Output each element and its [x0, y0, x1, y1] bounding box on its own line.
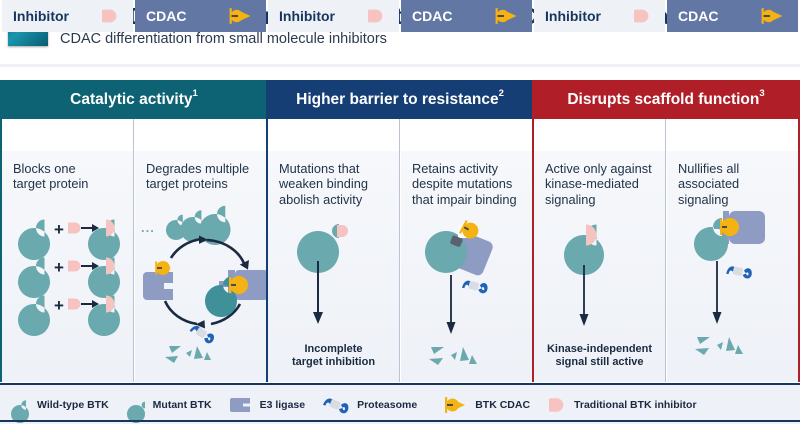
illustration-catalytic-cycle: ... — [135, 196, 266, 381]
subheader-inhibitor-1: Inhibitor — [2, 0, 133, 32]
subheader-label: CDAC — [412, 8, 452, 24]
slide: 2 BTK CDAC Emerging as Potential Best-in… — [0, 0, 800, 422]
panel-description: Blocks one target protein — [13, 161, 125, 192]
mutant-btk-with-inhibitor — [297, 224, 348, 273]
legend-item-e3-ligase: E3 ligase — [229, 395, 306, 415]
proteasome-icon — [725, 263, 753, 282]
btk-cdac-icon — [749, 7, 785, 25]
column-divider-3 — [665, 119, 666, 382]
illustration-kinase-mediated — [534, 213, 665, 363]
legend-item-traditional-btk-inhibitor: Traditional BTK inhibitor — [547, 395, 697, 415]
traditional-btk-inhibitor-icon — [100, 7, 120, 25]
ternary-complex-wildtype — [694, 211, 765, 261]
legend-item-btk-cdac: BTK CDAC — [434, 395, 530, 415]
btk-cdac-icon — [483, 7, 519, 25]
reaction-row: + — [18, 296, 120, 337]
category-label: Disrupts scaffold function — [567, 91, 759, 109]
legend-item-wild-type-btk: Wild-type BTK — [10, 395, 109, 415]
btk-cdac-icon — [434, 395, 468, 415]
column-divider-2 — [399, 119, 400, 382]
e3-ligase-icon — [229, 395, 253, 415]
subheader-inhibitor-2: Inhibitor — [268, 0, 399, 32]
illustration-nullifies-signaling — [667, 203, 798, 373]
subheader-label: Inhibitor — [13, 8, 69, 24]
legend-label: Traditional BTK inhibitor — [574, 399, 697, 411]
degraded-fragments — [695, 337, 743, 355]
column-divider-1 — [133, 119, 134, 382]
reaction-row: + — [18, 220, 120, 261]
subheader-cdac-2: CDAC — [401, 0, 532, 32]
legend-label: Proteasome — [357, 399, 417, 411]
subheader-inhibitor-3: Inhibitor — [534, 0, 665, 32]
traditional-btk-inhibitor-icon — [547, 395, 567, 415]
panel-cdac-catalytic: Degrades multiple target proteins ... — [135, 151, 266, 382]
legend-label: Wild-type BTK — [37, 399, 109, 411]
category-header-disrupts-scaffold: Disrupts scaffold function3 — [534, 80, 798, 119]
panel-caption: Kinase-independent signal still active — [534, 343, 665, 369]
subheader-cdac-1: CDAC — [135, 0, 266, 32]
subheader-label: Inhibitor — [545, 8, 601, 24]
panel-description: Degrades multiple target proteins — [146, 161, 258, 192]
ellipsis-stack: ... — [141, 220, 155, 235]
panel-inhibitor-resistance: Mutations that weaken binding abolish ac… — [268, 151, 399, 382]
category-footnote: 3 — [759, 88, 764, 99]
ternary-complex-mutant — [425, 219, 495, 277]
mutant-btk-icon — [126, 395, 146, 415]
header-divider — [0, 64, 800, 67]
legend-label: BTK CDAC — [475, 399, 530, 411]
degraded-fragments — [165, 346, 211, 363]
subheader-label: Inhibitor — [279, 8, 335, 24]
subheader-label: CDAC — [678, 8, 718, 24]
illustration-cdac-retains-activity — [401, 209, 532, 379]
category-footnote: 2 — [499, 88, 504, 99]
panel-cdac-scaffold: Nullifies all associated signaling — [667, 151, 798, 382]
panel-description: Nullifies all associated signaling — [678, 161, 790, 207]
category-label: Catalytic activity — [70, 91, 192, 109]
category-header-higher-barrier: Higher barrier to resistance2 — [268, 80, 532, 119]
btk-cdac-icon — [217, 7, 253, 25]
legend-label: E3 ligase — [260, 399, 306, 411]
legend-item-mutant-btk: Mutant BTK — [126, 395, 212, 415]
legend-label: Mutant BTK — [153, 399, 212, 411]
svg-text:+: + — [54, 220, 64, 239]
category-label: Higher barrier to resistance — [296, 91, 498, 109]
page-subtitle: CDAC differentiation from small molecule… — [60, 31, 387, 47]
panel-description: Mutations that weaken binding abolish ac… — [279, 161, 391, 207]
proteasome-icon — [322, 395, 350, 415]
legend: Wild-type BTK Mutant BTK E3 ligase — [0, 383, 800, 424]
panel-description: Active only against kinase-mediated sign… — [545, 161, 657, 207]
degraded-fragments — [429, 347, 477, 365]
proteasome-icon — [461, 278, 488, 296]
panel-inhibitor-scaffold: Active only against kinase-mediated sign… — [534, 151, 665, 382]
wild-type-btk-icon — [10, 395, 30, 415]
group-border-red-left — [532, 80, 534, 382]
reaction-row: + — [18, 258, 120, 299]
group-border-teal — [0, 80, 2, 382]
panel-description: Retains activity despite mutations that … — [412, 161, 524, 207]
svg-text:+: + — [54, 258, 64, 277]
e3-ligase-free — [143, 272, 173, 300]
subheader-cdac-3: CDAC — [667, 0, 798, 32]
category-header-catalytic-activity: Catalytic activity1 — [2, 80, 266, 119]
legend-item-proteasome: Proteasome — [322, 395, 417, 415]
group-border-navy-left — [266, 80, 268, 382]
traditional-btk-inhibitor-icon — [632, 7, 652, 25]
proteasome-icon — [188, 325, 216, 345]
illustration-mutant-weak-binding — [268, 209, 399, 359]
panel-inhibitor-catalytic: Blocks one target protein + + — [2, 151, 133, 382]
category-footnote: 1 — [193, 88, 198, 99]
panel-caption: Incomplete target inhibition — [268, 343, 399, 369]
svg-text:+: + — [54, 296, 64, 315]
illustration-blocks-one-target: + + — [2, 206, 133, 366]
legend-row: Wild-type BTK Mutant BTK E3 ligase — [10, 385, 714, 424]
traditional-btk-inhibitor-icon — [366, 7, 386, 25]
panel-cdac-resistance: Retains activity despite mutations that … — [401, 151, 532, 382]
subheader-label: CDAC — [146, 8, 186, 24]
